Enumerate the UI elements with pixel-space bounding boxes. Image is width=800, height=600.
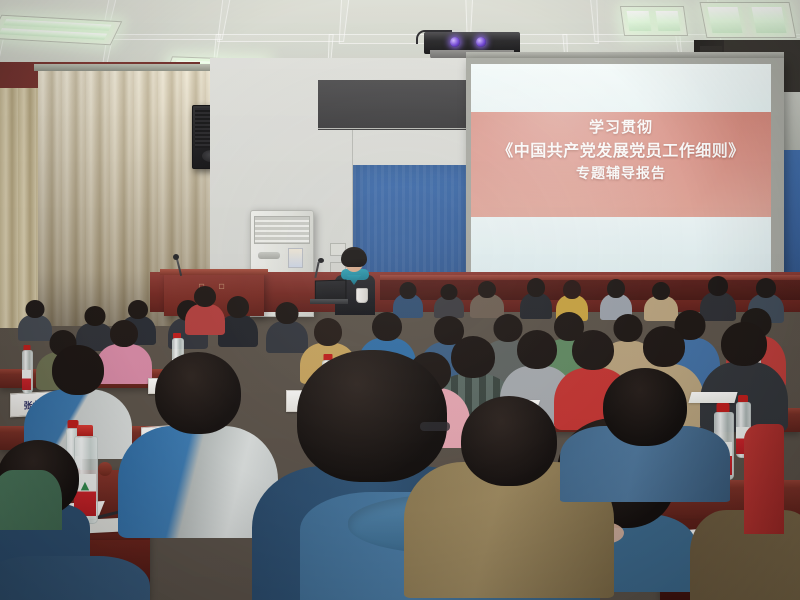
audience-member-far-2: [434, 284, 464, 316]
conference-hall-photo: 学习贯彻 《中国共产党发展党员工作细则》 专题辅导报告 ▫ ▫: [0, 0, 800, 600]
microphone-head-1: [173, 254, 179, 260]
screen-glare: [471, 64, 771, 272]
projection-screen: 学习贯彻 《中国共产党发展党员工作细则》 专题辅导报告: [471, 64, 771, 272]
presenter-hair-front: [342, 250, 366, 259]
audience-member-red-jacket-sliver: [744, 424, 784, 534]
curtain-rod: [34, 64, 230, 71]
audience-member-front-left-shoulder: [0, 556, 150, 600]
lectern-top: [160, 269, 268, 275]
ceiling-light-fixture-4: [620, 6, 688, 36]
ceiling-light-fixture-3: [700, 2, 797, 38]
ceiling-projector: [424, 18, 520, 52]
stage-table-top: [380, 275, 800, 280]
ac-upper-vent: [254, 216, 310, 244]
audience-member-far-6: [600, 279, 632, 319]
microphone-head-2: [318, 258, 324, 263]
projector-lens-left: [450, 37, 460, 47]
presenter-laptop-base: [310, 299, 348, 304]
audience-member-far-1: [393, 282, 423, 316]
ac-brand-logo: [258, 252, 280, 259]
audience-member-green-sleeve: [0, 470, 62, 530]
ac-energy-label: [288, 248, 303, 268]
paper-cup: [356, 288, 368, 303]
projector-lens-right: [476, 37, 486, 47]
chair-knob-1: [98, 462, 112, 476]
audience-member-front-denim: [560, 368, 730, 498]
audience-member-far-16: [185, 286, 225, 334]
audience-member-far-3: [470, 281, 504, 317]
